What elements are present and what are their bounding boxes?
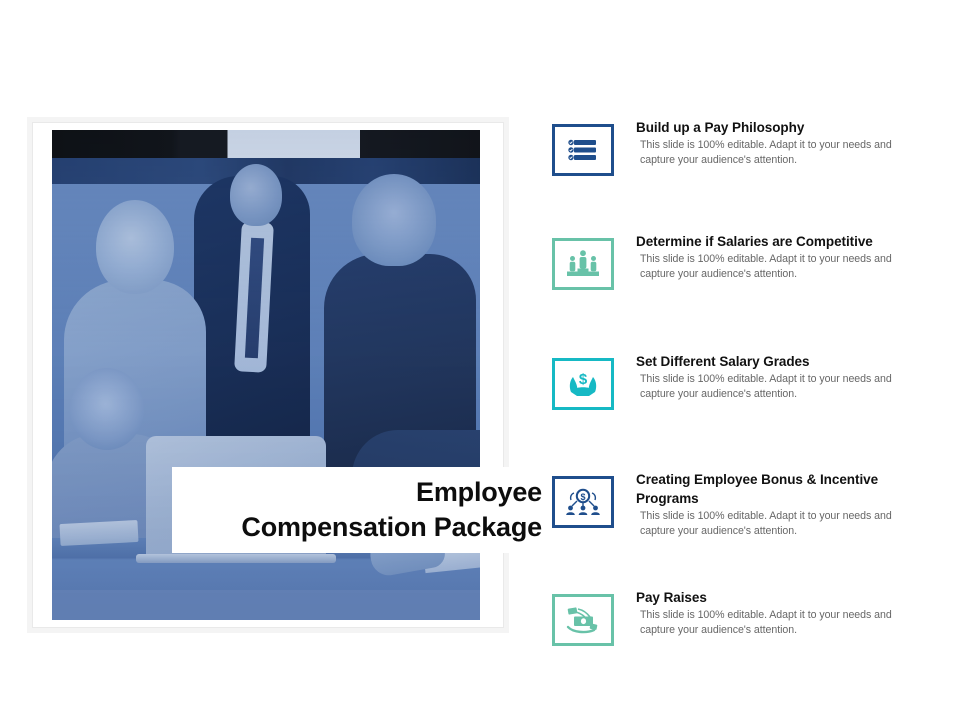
svg-text:$: $ [579, 371, 588, 388]
feature-text-3: Set Different Salary Grades This slide i… [636, 352, 926, 401]
icon-frame-3: $ [552, 358, 614, 410]
icon-frame-4: $ [552, 476, 614, 528]
checklist-icon [568, 137, 598, 163]
feature-desc-3: This slide is 100% editable. Adapt it to… [636, 372, 926, 401]
page-title-line-2: Compensation Package [241, 510, 542, 545]
feature-desc-4: This slide is 100% editable. Adapt it to… [636, 509, 926, 538]
feature-desc-2: This slide is 100% editable. Adapt it to… [636, 252, 926, 281]
feature-row-build-up-a-pay-philosophy[interactable]: Build up a Pay Philosophy This slide is … [552, 118, 932, 176]
feature-title-5: Pay Raises [636, 588, 926, 607]
team-bonus-dollar-icon: $ [565, 488, 601, 516]
icon-frame-1 [552, 124, 614, 176]
visual-block: Employee Compensation Package [32, 122, 504, 628]
page-title-line-1: Employee [416, 475, 542, 510]
feature-desc-1: This slide is 100% editable. Adapt it to… [636, 138, 926, 167]
feature-desc-5: This slide is 100% editable. Adapt it to… [636, 608, 926, 637]
feature-text-1: Build up a Pay Philosophy This slide is … [636, 118, 926, 167]
feature-title-2: Determine if Salaries are Competitive [636, 232, 926, 251]
podium-people-icon [566, 250, 600, 278]
feature-row-set-different-salary-grades[interactable]: $ Set Different Salary Grades This slide… [552, 352, 932, 410]
feature-title-1: Build up a Pay Philosophy [636, 118, 926, 137]
icon-frame-5 [552, 594, 614, 646]
slide-title-plate: Employee Compensation Package [172, 467, 554, 553]
feature-title-3: Set Different Salary Grades [636, 352, 926, 371]
feature-row-pay-raises[interactable]: Pay Raises This slide is 100% editable. … [552, 588, 932, 646]
icon-frame-2 [552, 238, 614, 290]
feature-row-determine-if-salaries-are-competitive[interactable]: Determine if Salaries are Competitive Th… [552, 232, 932, 290]
feature-text-2: Determine if Salaries are Competitive Th… [636, 232, 926, 281]
hand-cash-icon [566, 606, 600, 634]
svg-text:$: $ [580, 492, 585, 502]
feature-title-4: Creating Employee Bonus & Incentive Prog… [636, 470, 926, 508]
feature-text-4: Creating Employee Bonus & Incentive Prog… [636, 470, 926, 538]
hands-holding-dollar-icon: $ [566, 370, 600, 398]
slide-canvas: Employee Compensation Package [0, 0, 960, 720]
feature-row-creating-employee-bonus-and-incentive-programs[interactable]: $ Creating Emp [552, 470, 932, 538]
feature-text-5: Pay Raises This slide is 100% editable. … [636, 588, 926, 637]
